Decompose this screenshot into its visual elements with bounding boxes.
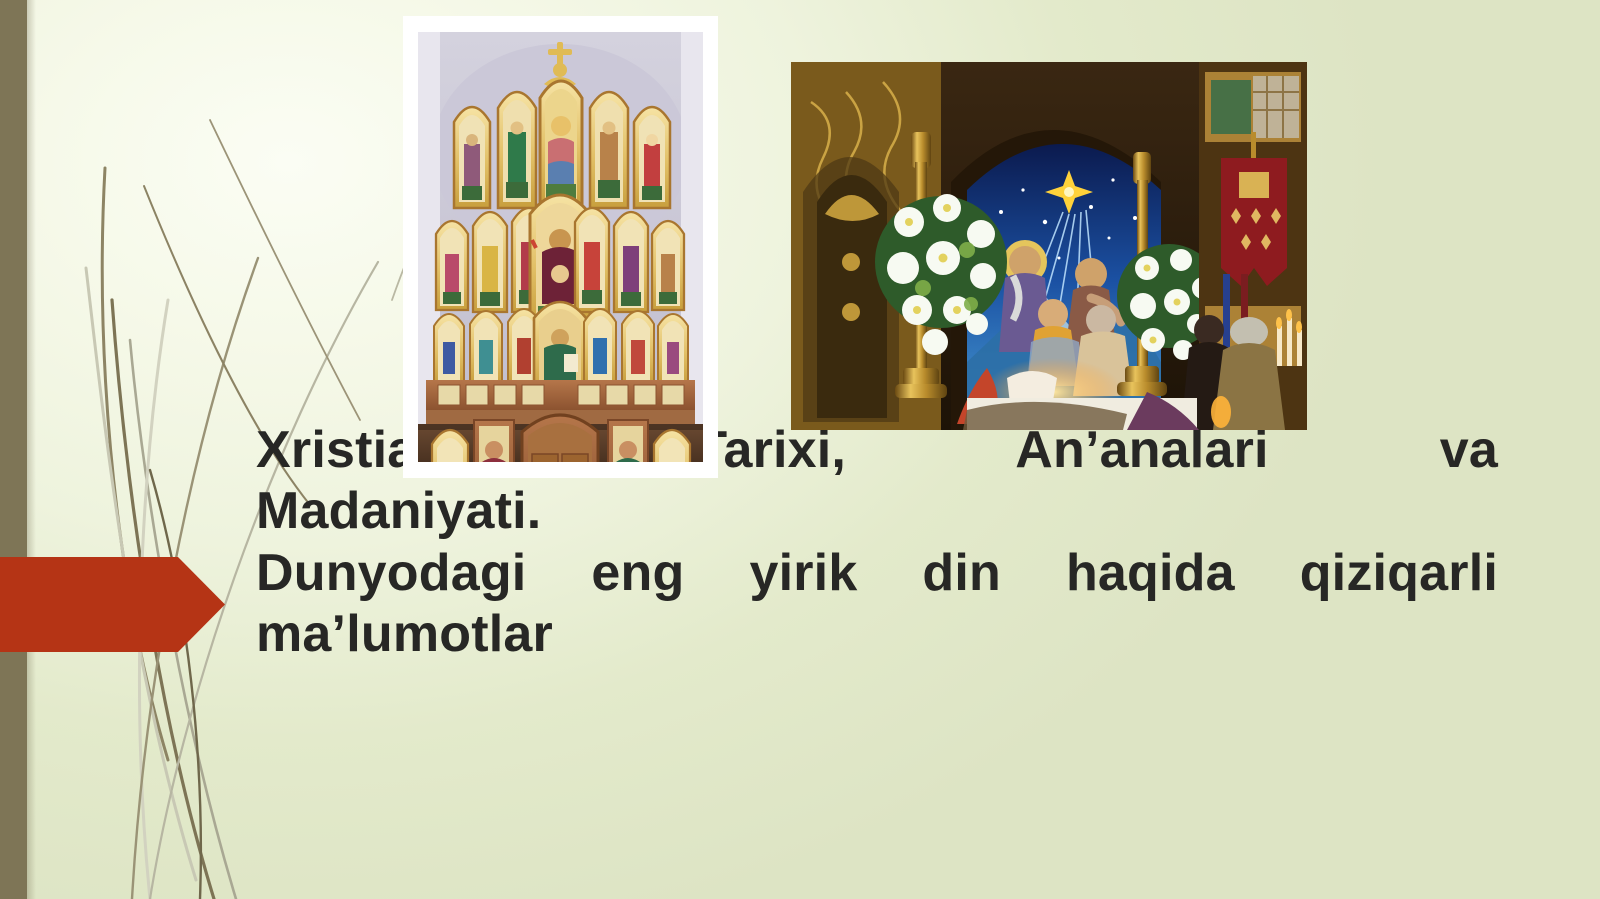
title-line-4: ma’lumotlar <box>256 604 1498 665</box>
olive-vertical-band <box>0 0 27 899</box>
title-line-2: Madaniyati. <box>256 481 1498 542</box>
iconostasis-image-content <box>418 32 703 462</box>
olive-band-shadow <box>27 0 36 899</box>
iconostasis-illustration <box>418 32 703 462</box>
nativity-illustration <box>791 62 1307 430</box>
red-arrow-banner <box>0 557 225 652</box>
presentation-slide: Xristianlik: Tarixi, An’analari va Madan… <box>0 0 1600 899</box>
title-paragraph-2: Dunyodagi eng yirik din haqida qiziqarli… <box>256 543 1498 666</box>
orthodox-iconostasis-photo <box>403 16 718 478</box>
title-line-3: Dunyodagi eng yirik din haqida qiziqarli <box>256 543 1498 604</box>
orthodox-nativity-scene-photo <box>791 62 1307 430</box>
